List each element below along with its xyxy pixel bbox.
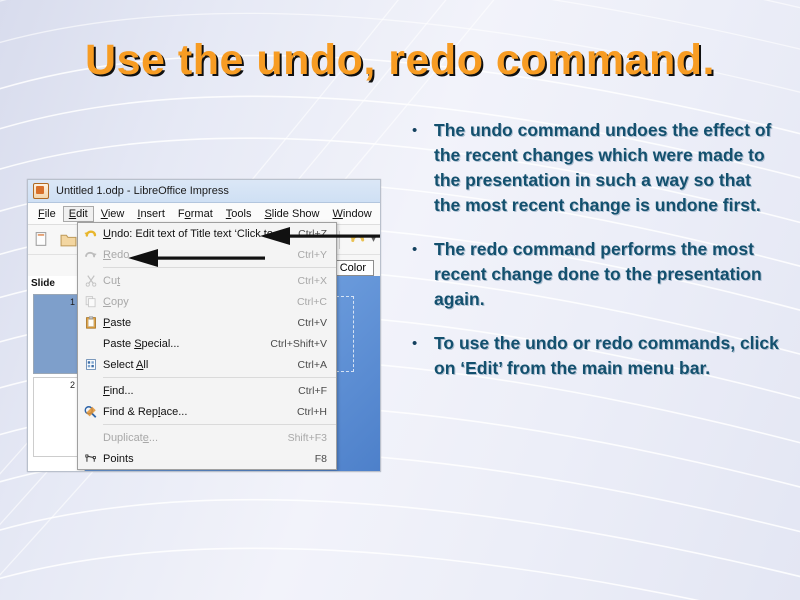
menu-item-find[interactable]: Find... Ctrl+F bbox=[78, 380, 336, 401]
redo-icon bbox=[78, 248, 103, 261]
menu-separator bbox=[103, 267, 336, 268]
toolbar-dropdown-arrow[interactable]: ▾ bbox=[371, 234, 380, 245]
menu-item-accel: Ctrl+Shift+V bbox=[270, 338, 336, 350]
list-item: • The undo command undoes the effect of … bbox=[408, 118, 780, 218]
slide-thumbnail-2[interactable]: 2 bbox=[33, 377, 79, 457]
menu-item-accel: Ctrl+A bbox=[298, 359, 336, 371]
menu-item-duplicate[interactable]: Duplicate... Shift+F3 bbox=[78, 427, 336, 448]
menu-item-select-all[interactable]: Select All Ctrl+A bbox=[78, 354, 336, 375]
menu-item-accel: Ctrl+Z bbox=[298, 228, 336, 240]
menu-item-redo[interactable]: Redo Ctrl+Y bbox=[78, 244, 336, 265]
menu-item-label: Paste Special... bbox=[103, 338, 270, 350]
list-item: • To use the undo or redo commands, clic… bbox=[408, 331, 780, 381]
list-item: • The redo command performs the most rec… bbox=[408, 237, 780, 312]
points-icon bbox=[78, 452, 103, 465]
menu-item-slide-show[interactable]: Slide Show bbox=[258, 206, 325, 222]
menu-item-format[interactable]: Format bbox=[172, 206, 219, 222]
bullet-marker: • bbox=[408, 331, 434, 381]
menu-item-help[interactable]: Help bbox=[379, 206, 381, 222]
menu-item-undo[interactable]: Undo: Edit text of Title text ‘Click to.… bbox=[78, 223, 336, 244]
menu-item-insert[interactable]: Insert bbox=[131, 206, 171, 222]
undo-icon bbox=[78, 227, 103, 240]
menu-item-find-replace[interactable]: Find & Replace... Ctrl+H bbox=[78, 401, 336, 422]
select-all-icon bbox=[78, 358, 103, 371]
bullet-text: The redo command performs the most recen… bbox=[434, 237, 780, 312]
edit-dropdown-menu: Undo: Edit text of Title text ‘Click to.… bbox=[77, 222, 337, 470]
find-replace-icon bbox=[78, 405, 103, 419]
window-titlebar: Untitled 1.odp - LibreOffice Impress bbox=[28, 180, 380, 203]
menu-item-label: Paste bbox=[103, 317, 298, 329]
presentation-slide: Use the undo, redo command. • The undo c… bbox=[0, 0, 800, 600]
slide-title: Use the undo, redo command. bbox=[0, 36, 800, 85]
slide-body-text: • The undo command undoes the effect of … bbox=[408, 118, 780, 400]
undo-label-rest: ndo: Edit text of Title text ‘Click to..… bbox=[111, 228, 285, 240]
menu-item-label: Points bbox=[103, 453, 315, 465]
menu-item-label: Find... bbox=[103, 385, 298, 397]
bullet-marker: • bbox=[408, 237, 434, 312]
undo-toolbar-icon[interactable] bbox=[349, 231, 366, 248]
new-document-icon[interactable] bbox=[33, 231, 50, 248]
paste-icon bbox=[78, 316, 103, 329]
menu-item-label: Select All bbox=[103, 359, 298, 371]
menu-item-accel: Ctrl+X bbox=[298, 275, 336, 287]
menu-item-label: Find & Replace... bbox=[103, 406, 297, 418]
slide-number: 2 bbox=[70, 380, 75, 390]
menu-item-accel: Shift+F3 bbox=[288, 432, 336, 444]
bullet-text: The undo command undoes the effect of th… bbox=[434, 118, 780, 218]
menu-item-copy[interactable]: Copy Ctrl+C bbox=[78, 291, 336, 312]
bullet-text: To use the undo or redo commands, click … bbox=[434, 331, 780, 381]
menu-item-accel: Ctrl+Y bbox=[298, 249, 336, 261]
window-title: Untitled 1.odp - LibreOffice Impress bbox=[56, 185, 229, 197]
copy-icon bbox=[78, 295, 103, 308]
menu-item-label: Undo: Edit text of Title text ‘Click to.… bbox=[103, 228, 298, 240]
menu-item-paste-special[interactable]: Paste Special... Ctrl+Shift+V bbox=[78, 333, 336, 354]
menu-item-file[interactable]: File bbox=[32, 206, 62, 222]
menu-item-tools[interactable]: Tools bbox=[220, 206, 258, 222]
menu-item-accel: F8 bbox=[315, 453, 336, 465]
menu-item-accel: Ctrl+F bbox=[298, 385, 336, 397]
libreoffice-impress-screenshot: Untitled 1.odp - LibreOffice Impress Fil… bbox=[27, 179, 381, 472]
menu-item-label: Cut bbox=[103, 275, 298, 287]
bullet-marker: • bbox=[408, 118, 434, 218]
open-icon[interactable] bbox=[60, 231, 77, 248]
toolbar-separator bbox=[339, 231, 340, 249]
menu-item-label: Duplicate... bbox=[103, 432, 288, 444]
slide-panel-label: Slide bbox=[28, 276, 84, 291]
fill-color-field[interactable]: Color bbox=[332, 260, 374, 276]
menu-separator bbox=[103, 424, 336, 425]
menu-item-accel: Ctrl+H bbox=[297, 406, 336, 418]
menu-item-points[interactable]: Points F8 bbox=[78, 448, 336, 469]
menu-item-cut[interactable]: Cut Ctrl+X bbox=[78, 270, 336, 291]
menu-item-accel: Ctrl+C bbox=[297, 296, 336, 308]
slide-number: 1 bbox=[70, 297, 75, 307]
menu-item-window[interactable]: Window bbox=[327, 206, 378, 222]
menu-item-label: Copy bbox=[103, 296, 297, 308]
menu-separator bbox=[103, 377, 336, 378]
menu-item-accel: Ctrl+V bbox=[298, 317, 336, 329]
menu-item-view[interactable]: View bbox=[95, 206, 131, 222]
menu-item-label: Redo bbox=[103, 249, 298, 261]
cut-icon bbox=[78, 274, 103, 287]
slide-thumbnail-1[interactable]: 1 bbox=[33, 294, 79, 374]
impress-document-icon bbox=[33, 183, 49, 199]
menu-item-edit[interactable]: Edit bbox=[63, 206, 94, 222]
menu-item-paste[interactable]: Paste Ctrl+V bbox=[78, 312, 336, 333]
